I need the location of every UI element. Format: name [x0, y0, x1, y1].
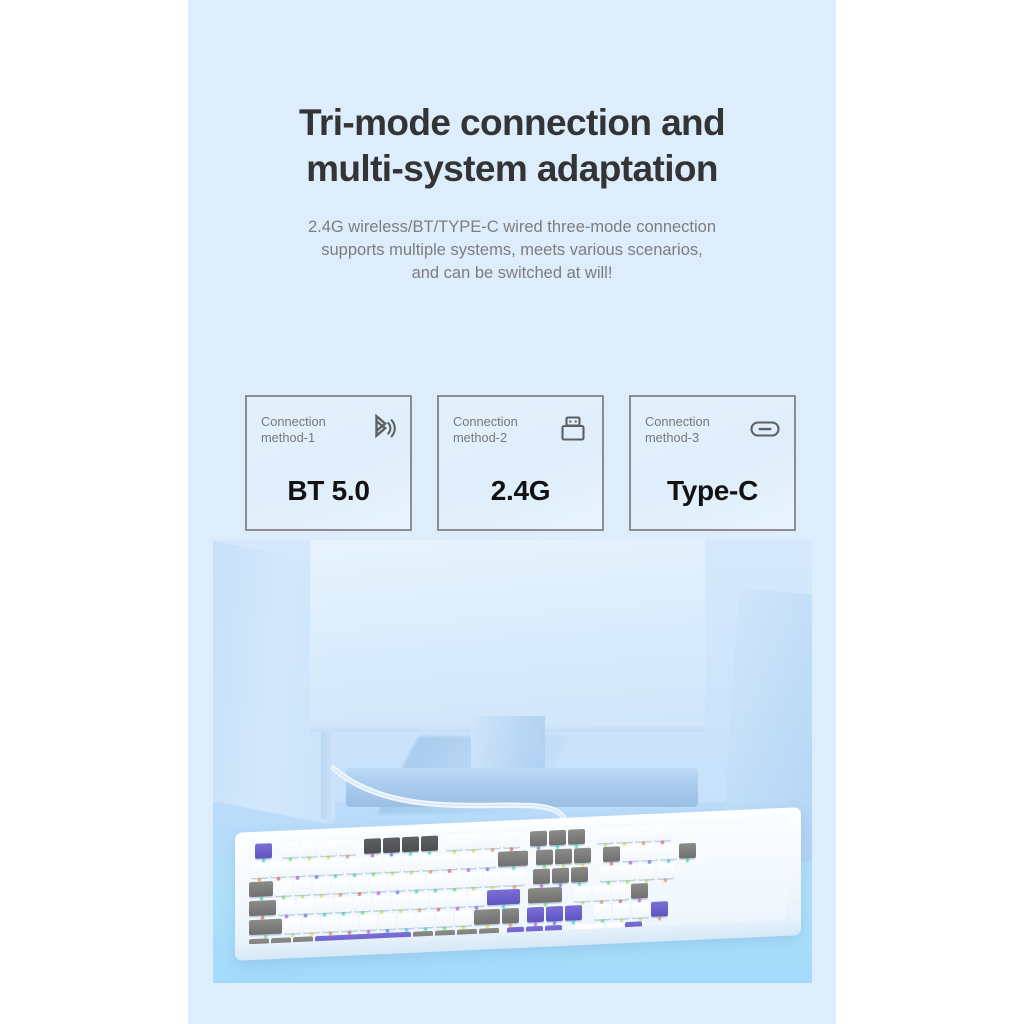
keycap	[654, 825, 671, 841]
page-title: Tri-mode connection and multi-system ada…	[188, 100, 836, 192]
keycap	[449, 891, 466, 907]
keycap	[465, 834, 482, 850]
keycap	[632, 902, 649, 918]
keycap	[332, 878, 349, 894]
keycap	[341, 915, 358, 931]
connection-method-card-3[interactable]: Connection method-3 Type-C	[629, 395, 796, 531]
keycap	[360, 914, 377, 930]
keycap	[455, 910, 472, 926]
keycap	[479, 852, 496, 868]
keycap	[446, 834, 463, 850]
keycap	[638, 864, 655, 880]
keycap	[383, 837, 400, 853]
keycap	[549, 830, 566, 846]
keycap	[251, 862, 268, 878]
keycap	[284, 918, 301, 934]
keycap	[546, 906, 563, 922]
keycap	[635, 826, 652, 842]
keycap	[398, 913, 415, 929]
keycap	[389, 875, 406, 891]
keycap	[249, 881, 273, 897]
card-header: Connection method-2	[453, 414, 590, 446]
keycap	[487, 889, 520, 905]
subtitle-line-2: supports multiple systems, meets various…	[232, 239, 792, 262]
card-label: Connection method-3	[645, 414, 710, 446]
keycap	[679, 843, 696, 859]
page-subtitle: 2.4G wireless/BT/TYPE-C wired three-mode…	[232, 216, 792, 285]
keycap	[351, 877, 368, 893]
keycap	[657, 863, 674, 879]
keycap	[270, 861, 287, 877]
keycap	[282, 842, 299, 858]
keycap	[571, 867, 588, 883]
keycap	[417, 912, 434, 928]
type-c-port-icon	[748, 412, 782, 446]
keycap	[530, 831, 547, 847]
keycap	[603, 846, 620, 862]
keycap	[574, 886, 591, 902]
connection-methods-list: Connection method-1 BT 5.0 Connection me…	[245, 395, 796, 531]
keycap	[289, 861, 306, 877]
keycap	[427, 873, 444, 889]
keycap	[346, 858, 363, 874]
keycap	[593, 885, 610, 901]
keycap	[322, 916, 339, 932]
keycap	[354, 896, 371, 912]
keycap	[660, 844, 677, 860]
keycap	[619, 865, 636, 881]
keycap	[484, 833, 501, 849]
card-value: 2.4G	[439, 475, 602, 507]
keycap	[465, 872, 482, 888]
keycap	[641, 845, 658, 861]
keycap	[527, 907, 544, 923]
keycap	[555, 849, 572, 865]
keycap	[503, 870, 525, 886]
keycap	[370, 876, 387, 892]
bluetooth-icon	[364, 412, 398, 446]
keycap	[301, 841, 318, 857]
mechanical-keyboard	[215, 816, 811, 976]
keycap	[568, 829, 585, 845]
keycap	[379, 913, 396, 929]
keycap	[474, 909, 500, 925]
keycap	[421, 836, 438, 852]
connection-method-card-1[interactable]: Connection method-1 BT 5.0	[245, 395, 412, 531]
card-label: Connection method-2	[453, 414, 518, 446]
keycap	[536, 849, 553, 865]
keycap	[651, 901, 668, 917]
keycap	[294, 879, 311, 895]
keycap	[364, 838, 381, 854]
keycap	[622, 845, 639, 861]
keycap	[278, 899, 295, 915]
header-section: Tri-mode connection and multi-system ada…	[188, 100, 836, 285]
connection-method-card-2[interactable]: Connection method-2 2.4G	[437, 395, 604, 531]
keycap	[275, 880, 292, 896]
keycap	[446, 872, 463, 888]
keycap	[392, 894, 409, 910]
keycap	[503, 832, 520, 848]
keycap	[335, 896, 352, 912]
keycap	[402, 836, 419, 852]
subtitle-line-1: 2.4G wireless/BT/TYPE-C wired three-mode…	[232, 216, 792, 239]
scene-usb-cable	[331, 762, 569, 824]
product-photo	[213, 540, 812, 983]
keycap	[594, 904, 611, 920]
card-label: Connection method-1	[261, 414, 326, 446]
keycap	[441, 854, 458, 870]
card-value: Type-C	[631, 475, 794, 507]
keycap	[249, 919, 282, 935]
keycap	[303, 917, 320, 933]
usb-dongle-icon	[556, 412, 590, 446]
keycap	[403, 855, 420, 871]
keycap	[574, 848, 591, 864]
keycap	[616, 827, 633, 843]
keycap	[249, 938, 269, 944]
keycap	[631, 883, 648, 899]
keycap	[373, 895, 390, 911]
keycap	[528, 887, 562, 904]
keycap	[384, 856, 401, 872]
keycap	[316, 897, 333, 913]
card-header: Connection method-1	[261, 414, 398, 446]
keycap	[600, 865, 617, 881]
subtitle-line-3: and can be switched at will!	[232, 262, 792, 285]
keycap	[308, 860, 325, 876]
scene-monitor	[310, 540, 705, 730]
keycap	[565, 905, 582, 921]
keycap	[484, 871, 501, 887]
keycap	[468, 890, 485, 906]
keycap	[365, 857, 382, 873]
keycap	[327, 859, 344, 875]
product-detail-page: Tri-mode connection and multi-system ada…	[188, 0, 836, 1024]
card-header: Connection method-3	[645, 414, 782, 446]
keycap	[320, 840, 337, 856]
keycap	[498, 851, 528, 867]
card-value: BT 5.0	[247, 475, 410, 507]
keycap	[436, 911, 453, 927]
keycap	[612, 884, 629, 900]
keycap	[533, 869, 550, 885]
keycap	[460, 853, 477, 869]
headline-line-2: multi-system adaptation	[218, 146, 806, 192]
keycap	[255, 843, 272, 859]
keycap	[430, 892, 447, 908]
keycap	[422, 855, 439, 871]
keycap	[408, 874, 425, 890]
keycap	[411, 893, 428, 909]
keycap	[339, 839, 356, 855]
headline-line-1: Tri-mode connection and	[299, 102, 725, 143]
keycap	[297, 898, 314, 914]
keycap	[552, 868, 569, 884]
keycap	[313, 878, 330, 894]
keycap	[613, 903, 630, 919]
keycap	[597, 828, 614, 844]
keycap	[502, 908, 519, 924]
keycap	[249, 900, 276, 916]
